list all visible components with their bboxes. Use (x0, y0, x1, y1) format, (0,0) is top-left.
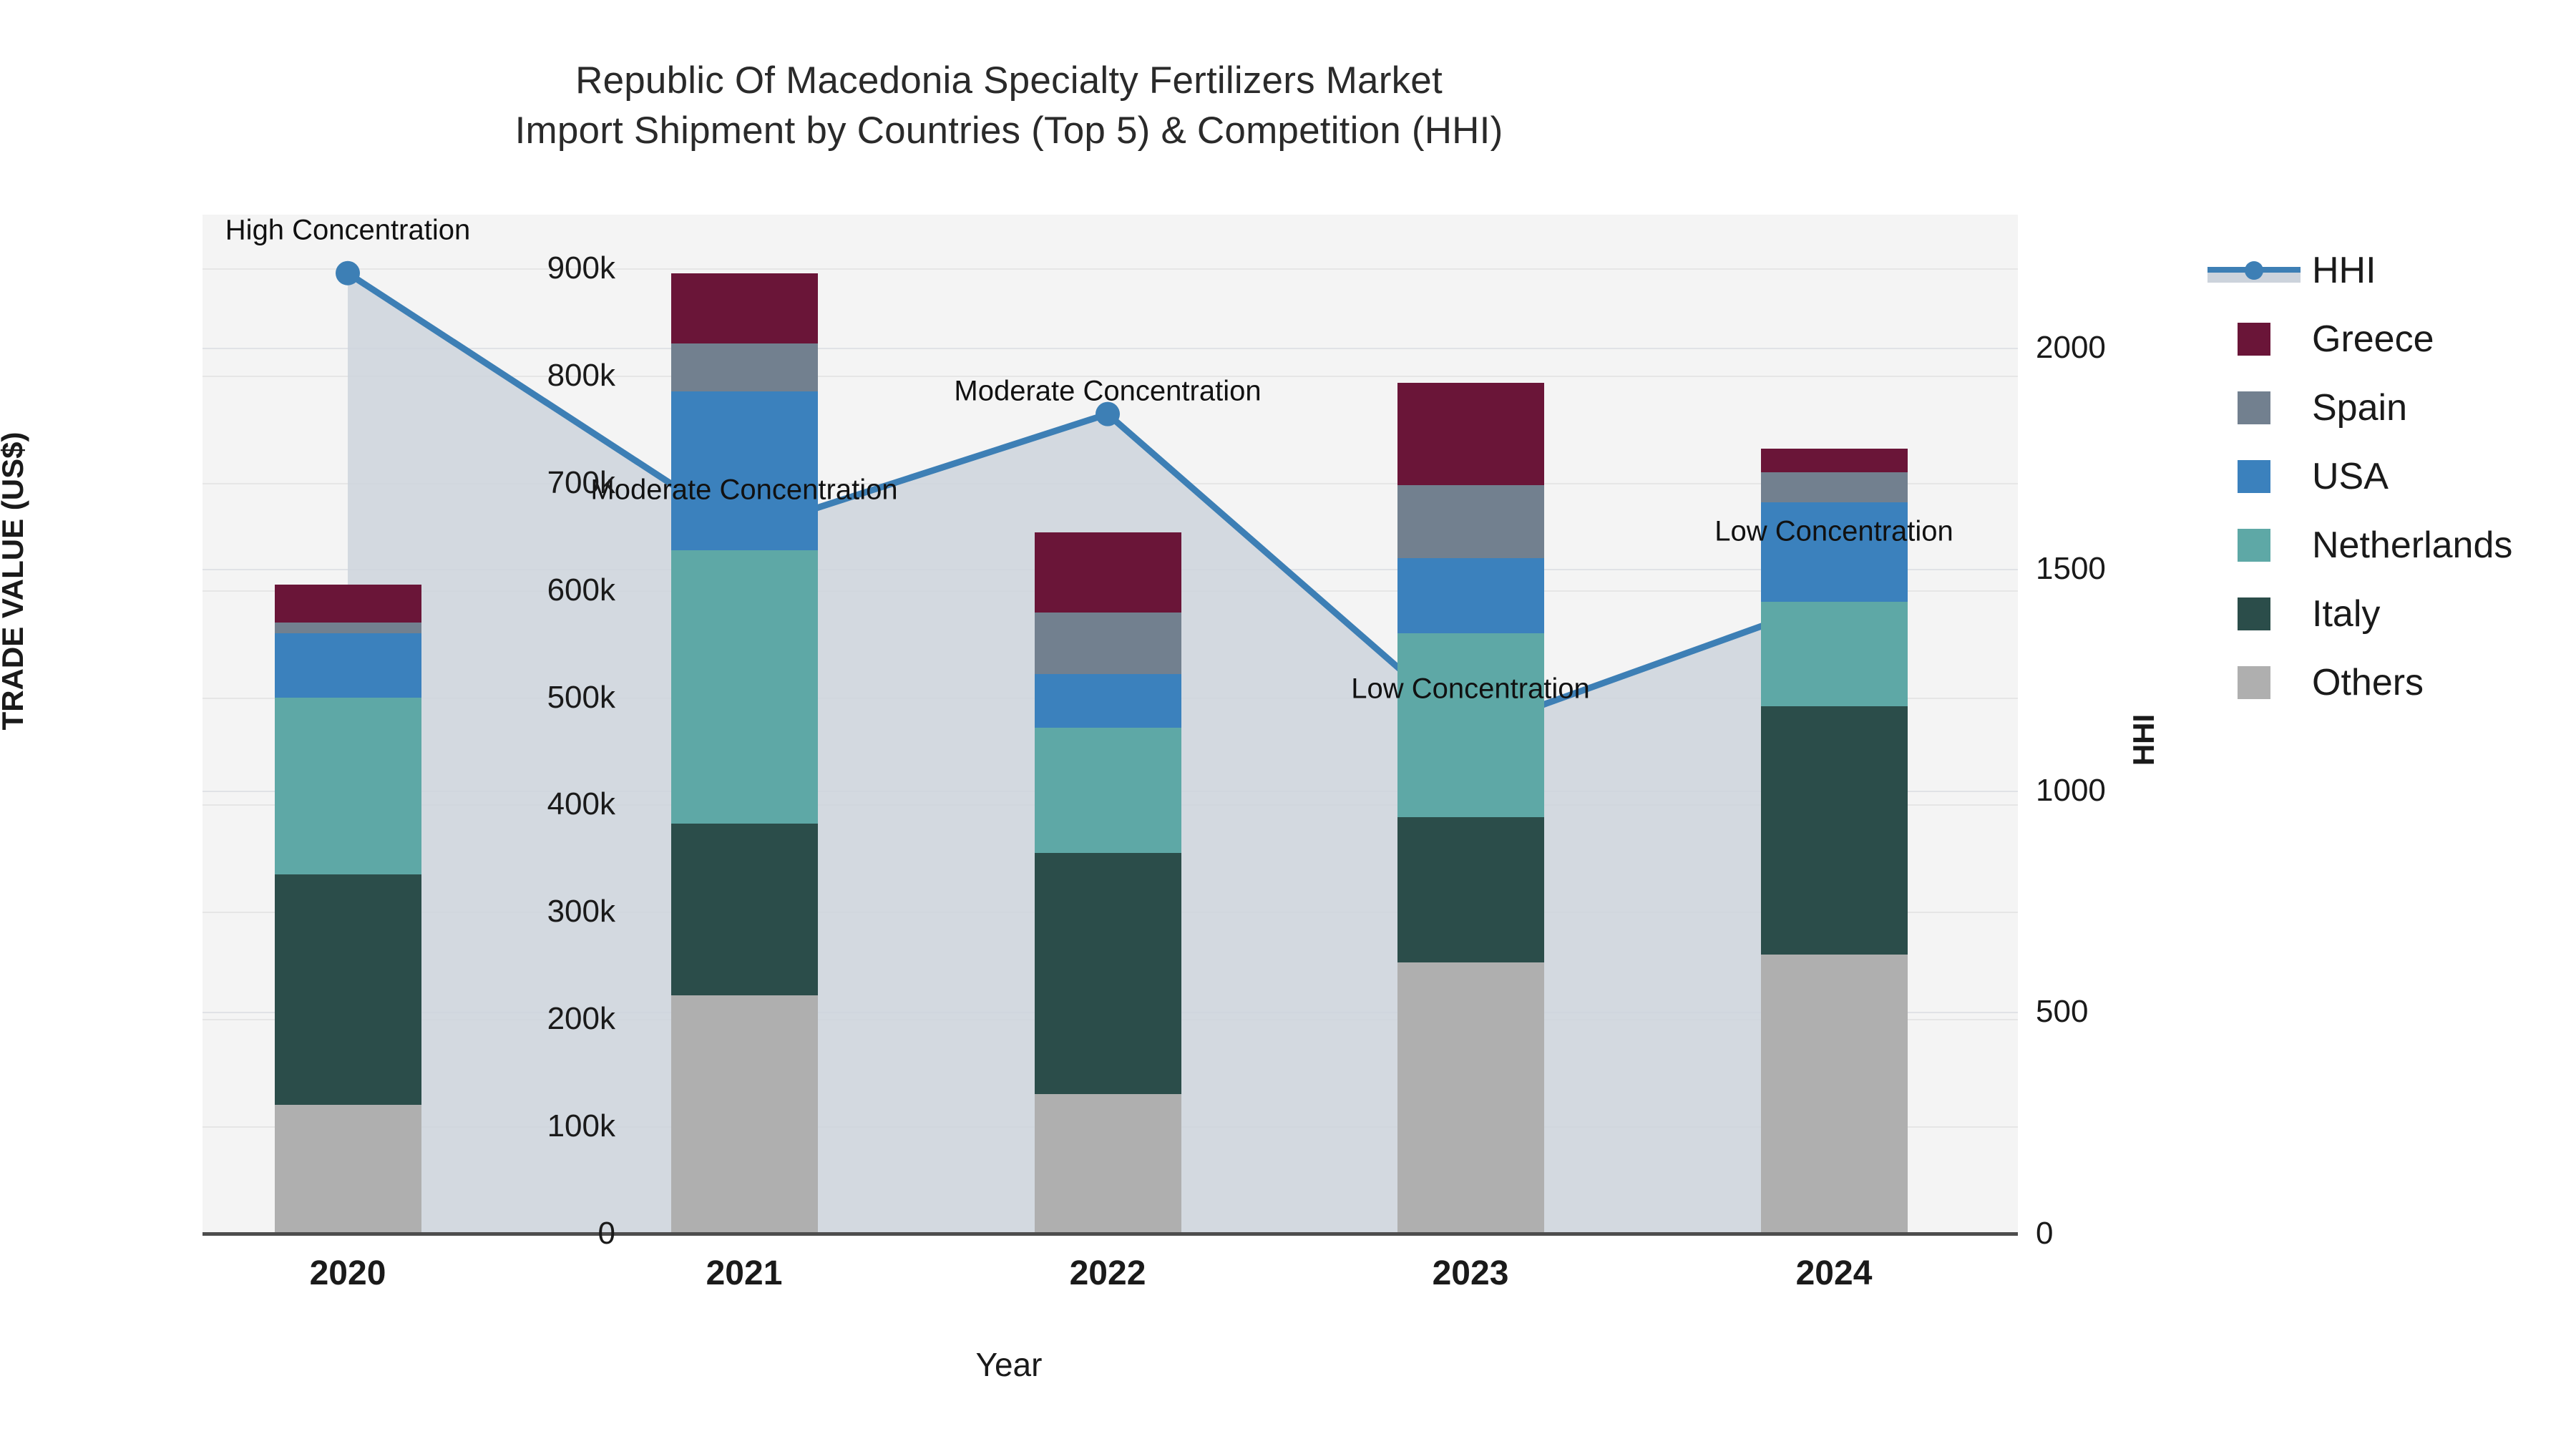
legend-item-usa[interactable]: USA (2207, 442, 2565, 511)
legend-swatch-icon (2238, 529, 2270, 562)
y-tick-label-left: 600k (429, 572, 615, 608)
x-tick-label: 2021 (637, 1254, 852, 1293)
bar-segment-italy[interactable] (1761, 706, 1908, 955)
bar-segment-italy[interactable] (275, 874, 421, 1105)
legend-swatch-icon (2238, 597, 2270, 630)
bar-segment-spain[interactable] (671, 343, 818, 391)
x-tick-label: 2022 (1000, 1254, 1215, 1293)
y-tick-label-left: 900k (429, 250, 615, 286)
bar-segment-italy[interactable] (1397, 817, 1544, 962)
bar-segment-others[interactable] (1761, 955, 1908, 1234)
bar-segment-netherlands[interactable] (275, 698, 421, 874)
chart-title-line-2: Import Shipment by Countries (Top 5) & C… (0, 106, 2018, 156)
y-tick-label-left: 100k (429, 1108, 615, 1144)
chart-title: Republic Of Macedonia Specialty Fertiliz… (0, 56, 2018, 156)
y-axis-label-left: TRADE VALUE (US$) (0, 431, 30, 731)
y-tick-label-left: 700k (429, 465, 615, 501)
legend-swatch-icon (2238, 460, 2270, 493)
bar-segment-netherlands[interactable] (1397, 633, 1544, 818)
legend-item-spain[interactable]: Spain (2207, 374, 2565, 442)
bar-segment-spain[interactable] (1761, 472, 1908, 502)
bar-segment-spain[interactable] (1035, 613, 1181, 673)
stacked-bar[interactable] (1761, 449, 1908, 1234)
bar-segment-italy[interactable] (1035, 853, 1181, 1094)
legend-swatch-icon (2238, 323, 2270, 356)
y-tick-label-left: 0 (429, 1216, 615, 1252)
x-axis-label: Year (0, 1345, 2018, 1384)
bar-segment-others[interactable] (1035, 1094, 1181, 1234)
legend-label: USA (2312, 455, 2389, 498)
legend-label: Others (2312, 661, 2424, 704)
x-tick-label: 2024 (1727, 1254, 1941, 1293)
y-axis-label-right: HHI (2127, 714, 2161, 766)
stacked-bar[interactable] (1035, 532, 1181, 1234)
legend-item-hhi[interactable]: HHI (2207, 236, 2565, 305)
legend-item-others[interactable]: Others (2207, 648, 2565, 717)
bar-segment-usa[interactable] (275, 633, 421, 698)
bar-segment-greece[interactable] (1035, 532, 1181, 613)
concentration-annotation: Low Concentration (1714, 516, 1953, 548)
bar-segment-others[interactable] (275, 1105, 421, 1234)
chart-title-line-1: Republic Of Macedonia Specialty Fertiliz… (575, 59, 1443, 102)
bar-segment-spain[interactable] (275, 623, 421, 633)
bar-segment-usa[interactable] (671, 391, 818, 550)
y-tick-label-right: 1000 (2036, 773, 2250, 809)
stacked-bar[interactable] (275, 585, 421, 1234)
stacked-bar[interactable] (1397, 453, 1544, 1234)
bar-segment-others[interactable] (671, 995, 818, 1234)
y-tick-label-right: 0 (2036, 1216, 2250, 1252)
bar-segment-spain[interactable] (1397, 485, 1544, 558)
y-tick-label-left: 800k (429, 358, 615, 394)
bar-segment-netherlands[interactable] (1761, 602, 1908, 706)
legend-label: Greece (2312, 318, 2434, 361)
bar-segment-others[interactable] (1397, 962, 1544, 1234)
x-tick-label: 2023 (1363, 1254, 1578, 1293)
bar-segment-netherlands[interactable] (671, 550, 818, 824)
legend-item-greece[interactable]: Greece (2207, 305, 2565, 374)
concentration-annotation: Moderate Concentration (590, 474, 897, 507)
legend-label: Netherlands (2312, 524, 2512, 567)
y-tick-label-left: 500k (429, 680, 615, 716)
bar-segment-italy[interactable] (671, 824, 818, 995)
bar-segment-usa[interactable] (1035, 674, 1181, 728)
legend-swatch-icon (2238, 391, 2270, 424)
legend-swatch-icon (2238, 666, 2270, 699)
bar-segment-netherlands[interactable] (1035, 728, 1181, 853)
x-tick-label: 2020 (240, 1254, 455, 1293)
bar-segment-greece[interactable] (671, 273, 818, 343)
bar-segment-usa[interactable] (1397, 558, 1544, 633)
y-tick-label-right: 500 (2036, 994, 2250, 1030)
chart-root: Republic Of Macedonia Specialty Fertiliz… (0, 0, 2576, 1449)
legend-item-netherlands[interactable]: Netherlands (2207, 511, 2565, 580)
concentration-annotation: High Concentration (225, 215, 470, 247)
concentration-annotation: Low Concentration (1351, 673, 1590, 706)
y-tick-label-left: 400k (429, 786, 615, 822)
concentration-annotation: Moderate Concentration (954, 376, 1261, 408)
legend-label: Spain (2312, 386, 2407, 429)
y-tick-label-left: 300k (429, 894, 615, 930)
bar-segment-greece[interactable] (275, 585, 421, 622)
legend-label: HHI (2312, 249, 2376, 292)
legend-line-marker-icon (2207, 254, 2301, 287)
stacked-bar[interactable] (671, 273, 818, 1234)
y-tick-label-left: 200k (429, 1001, 615, 1037)
legend: HHIGreeceSpainUSANetherlandsItalyOthers (2207, 236, 2565, 717)
hhi-data-point[interactable] (336, 261, 360, 286)
legend-item-italy[interactable]: Italy (2207, 580, 2565, 648)
legend-label: Italy (2312, 592, 2380, 635)
bar-segment-greece[interactable] (1761, 449, 1908, 472)
bar-segment-greece[interactable] (1397, 383, 1544, 484)
